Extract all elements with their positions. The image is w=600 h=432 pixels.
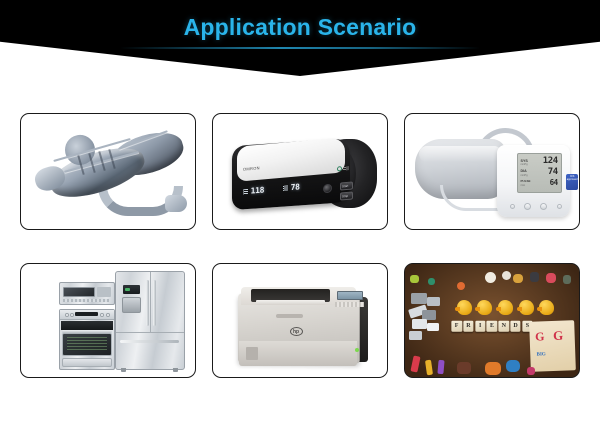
printer-control-keys[interactable] <box>335 302 365 307</box>
toy-figure <box>457 362 471 374</box>
lego-brick-cluster <box>408 291 453 348</box>
toy-figure <box>437 359 444 373</box>
friends-letter-tiles: F R I E N D S <box>451 321 532 332</box>
refrigerator <box>115 271 185 370</box>
tile-omron-blood-pressure-monitor[interactable]: OMRON 118 78 Start Stop <box>212 113 388 230</box>
yellow-toy-row <box>457 300 547 320</box>
omron-systolic-value: 118 <box>250 186 264 196</box>
tile-kitchen-appliances[interactable] <box>20 263 196 378</box>
turbine-engine-photo <box>21 114 195 229</box>
engine-exhaust-duct <box>98 186 183 216</box>
set-button[interactable] <box>524 203 531 210</box>
memory-button[interactable] <box>510 204 515 209</box>
toy-figure <box>563 275 571 284</box>
tile-cuff-blood-pressure-monitor[interactable]: SYS mmHg 124 DIA mmHg 74 PULSE /min 64 I… <box>404 113 580 230</box>
start-button[interactable] <box>540 203 547 210</box>
header-banner: Application Scenario <box>0 0 600 76</box>
omron-stop-button-label: Stop <box>342 194 348 199</box>
hp-logo: hp <box>290 327 303 336</box>
monitor-lcd: SYS mmHg 124 DIA mmHg 74 PULSE /min 64 <box>517 153 562 193</box>
sys-unit: mmHg <box>521 163 528 166</box>
toy-figure <box>506 360 520 372</box>
omron-monitor-photo: OMRON 118 78 Start Stop <box>213 114 387 229</box>
letter-tile: E <box>487 321 498 332</box>
approval-badge: ICS approved <box>566 174 578 190</box>
microwave-oven <box>59 282 115 305</box>
omron-stop-button[interactable]: Stop <box>340 192 353 201</box>
kitchen-appliances-photo <box>21 264 195 377</box>
printer-front-handle[interactable] <box>276 314 304 319</box>
dia-value: 74 <box>548 168 558 177</box>
toys-photo: F R I E N D S G G BIG <box>405 264 579 377</box>
letter-tile: I <box>475 321 486 332</box>
toy-figure <box>546 273 556 283</box>
printer-output-tray <box>251 289 329 303</box>
sys-value: 124 <box>543 157 558 166</box>
pulse-unit: /min <box>521 184 526 187</box>
dia-unit: mmHg <box>521 174 528 177</box>
cuff-monitor-photo: SYS mmHg 124 DIA mmHg 74 PULSE /min 64 I… <box>405 114 579 229</box>
monitor-unit: SYS mmHg 124 DIA mmHg 74 PULSE /min 64 I… <box>497 145 570 217</box>
printer-paper-tray <box>239 341 357 366</box>
toy-figure <box>527 367 535 375</box>
toy-figure <box>530 272 539 282</box>
toy-figure <box>513 274 523 283</box>
title-accent-line <box>120 47 480 49</box>
tile-laser-printer[interactable]: hp <box>212 263 388 378</box>
slide-root: Application Scenario <box>0 0 600 432</box>
toy-figure <box>485 272 496 283</box>
printer-control-lcd <box>337 291 363 300</box>
omron-start-button-label: Start <box>342 184 348 189</box>
page-title: Application Scenario <box>0 14 600 41</box>
letter-tile: R <box>463 321 474 332</box>
omron-diastolic-value: 78 <box>290 183 299 193</box>
tile-turbine-engine[interactable] <box>20 113 196 230</box>
monitor-buttons[interactable] <box>510 203 561 210</box>
letter-tile: D <box>510 321 521 332</box>
omron-bluetooth-logo <box>337 165 349 172</box>
letter-tile: F <box>451 321 462 332</box>
laser-printer-photo: hp <box>213 264 387 377</box>
toy-figure <box>410 275 419 283</box>
toy-figure <box>485 362 501 375</box>
toy-figure <box>428 278 435 285</box>
omron-brand-label: OMRON <box>243 165 260 171</box>
omron-start-button[interactable]: Start <box>340 181 353 190</box>
air-tube <box>440 185 503 210</box>
pulse-label: PULSE <box>521 180 531 183</box>
mode-button[interactable] <box>557 204 562 209</box>
range-oven <box>59 309 115 370</box>
tile-toys-friends[interactable]: F R I E N D S G G BIG <box>404 263 580 378</box>
application-scenario-gallery: OMRON 118 78 Start Stop <box>20 113 580 378</box>
colouring-books: G G BIG <box>529 320 576 371</box>
pulse-value: 64 <box>550 179 558 187</box>
letter-tile: N <box>499 321 510 332</box>
